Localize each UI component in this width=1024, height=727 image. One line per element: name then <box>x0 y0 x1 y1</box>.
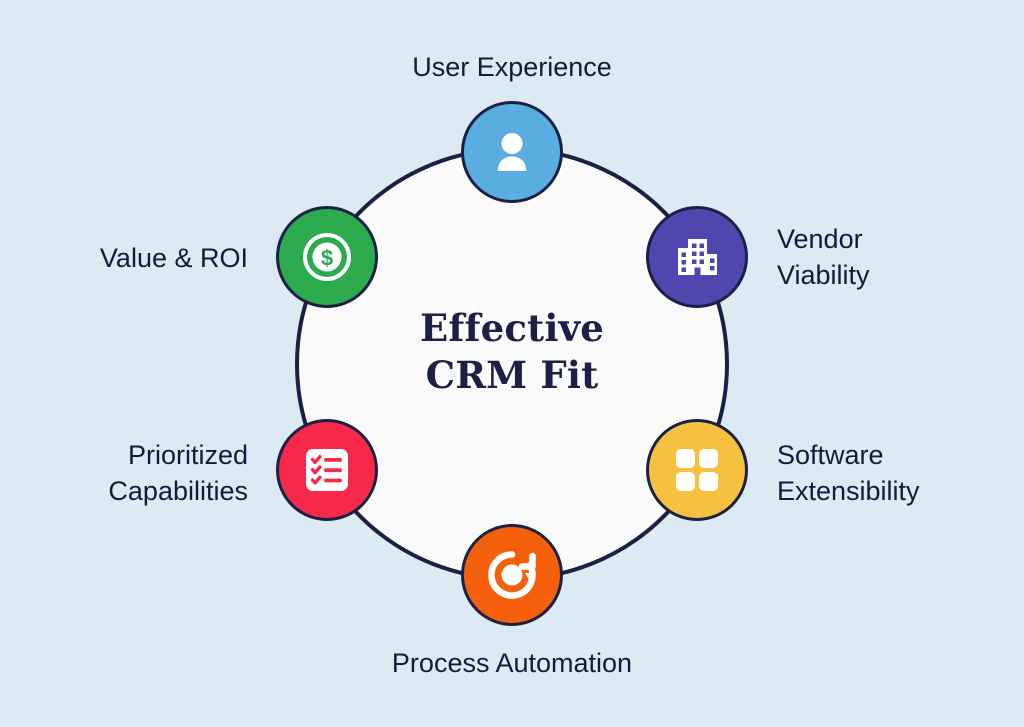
checklist-icon <box>302 445 352 495</box>
grid-squares-icon <box>672 445 722 495</box>
label-software-extensibility: Software Extensibility <box>777 438 1017 509</box>
label-prioritized-capabilities: Prioritized Capabilities <box>14 438 248 509</box>
label-user-experience: User Experience <box>312 50 712 86</box>
node-user-experience[interactable] <box>461 101 563 203</box>
label-value-roi: Value & ROI <box>14 241 248 277</box>
label-process-automation: Process Automation <box>312 646 712 682</box>
dollar-circle-icon: $ <box>300 230 354 284</box>
label-vendor-viability: Vendor Viability <box>777 222 1012 293</box>
svg-text:$: $ <box>321 246 333 271</box>
center-title: Effective CRM Fit <box>312 305 712 398</box>
node-vendor-viability[interactable] <box>646 206 748 308</box>
building-icon <box>672 232 722 282</box>
node-software-extensibility[interactable] <box>646 419 748 521</box>
node-value-roi[interactable]: $ <box>276 206 378 308</box>
refresh-circle-icon <box>484 547 540 603</box>
node-process-automation[interactable] <box>461 524 563 626</box>
user-icon <box>486 126 538 178</box>
node-prioritized-capabilities[interactable] <box>276 419 378 521</box>
crm-fit-diagram: Effective CRM Fit User Experience <box>0 0 1024 727</box>
